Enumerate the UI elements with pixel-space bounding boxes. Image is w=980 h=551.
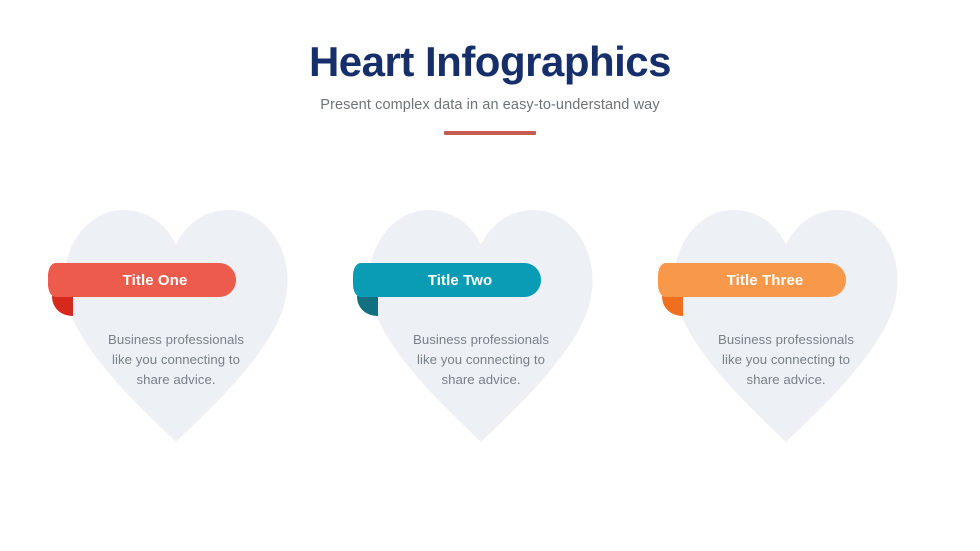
heart-card[interactable]: Title Three Business professionals like … (671, 205, 901, 450)
heart-card[interactable]: Title One Business professionals like yo… (61, 205, 291, 450)
ribbon-banner[interactable]: Title Two (353, 263, 554, 319)
card-description: Business professionals like you connecti… (73, 330, 279, 390)
accent-divider (444, 131, 536, 135)
ribbon-title: Title Two (353, 263, 541, 297)
page-title: Heart Infographics (0, 38, 980, 85)
heart-card[interactable]: Title Two Business professionals like yo… (366, 205, 596, 450)
card-description-line: Business professionals (683, 330, 889, 350)
card-description: Business professionals like you connecti… (378, 330, 584, 390)
slide-canvas: Heart Infographics Present complex data … (0, 0, 980, 551)
card-description-line: like you connecting to (73, 350, 279, 370)
heart-icon (61, 205, 291, 445)
card-description-line: share advice. (378, 370, 584, 390)
card-description-line: Business professionals (378, 330, 584, 350)
ribbon-banner[interactable]: Title Three (658, 263, 859, 319)
card-description-line: share advice. (683, 370, 889, 390)
card-description-line: Business professionals (73, 330, 279, 350)
card-description-line: like you connecting to (683, 350, 889, 370)
card-description: Business professionals like you connecti… (683, 330, 889, 390)
page-subtitle: Present complex data in an easy-to-under… (0, 97, 980, 114)
card-description-line: like you connecting to (378, 350, 584, 370)
heart-card-row: Title One Business professionals like yo… (0, 205, 980, 455)
ribbon-title: Title One (48, 263, 236, 297)
card-description-line: share advice. (73, 370, 279, 390)
heart-icon (671, 205, 901, 445)
slide-header: Heart Infographics Present complex data … (0, 38, 980, 135)
ribbon-title: Title Three (658, 263, 846, 297)
ribbon-banner[interactable]: Title One (48, 263, 249, 319)
heart-icon (366, 205, 596, 445)
